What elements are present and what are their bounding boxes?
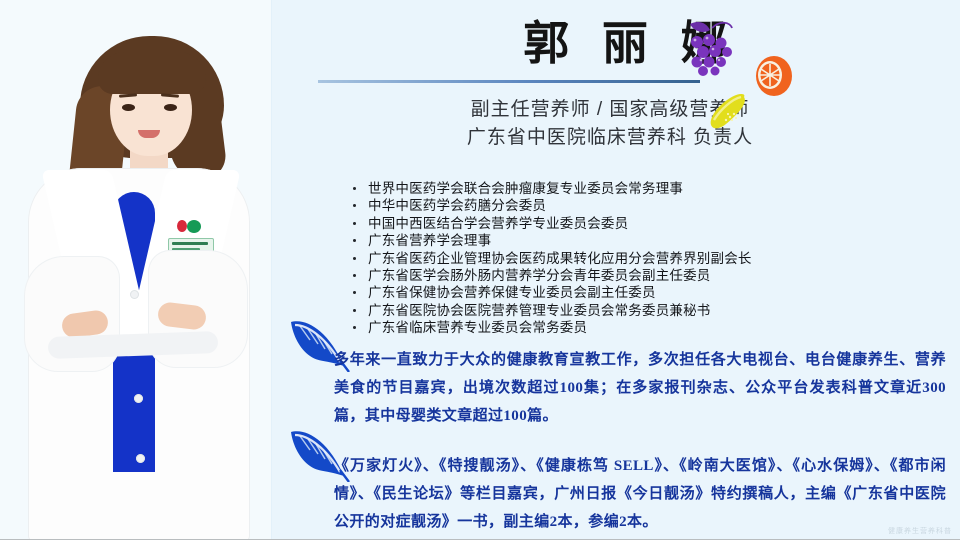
list-item-label: 广东省临床营养专业委员会常务委员 [368, 320, 587, 335]
list-item-label: 广东省医院协会医院营养管理专业委员会常务委员兼秘书 [368, 303, 711, 318]
bullet-dot-icon [353, 257, 356, 260]
list-item: 中国中西医结合学会营养学专业委员会委员 [350, 215, 950, 232]
bullet-dot-icon [353, 326, 356, 329]
bullet-dot-icon [353, 204, 356, 207]
watermark-text: 健康养生营养科普 [888, 526, 952, 536]
grapes-icon [688, 18, 744, 80]
list-item-label: 广东省医药企业管理协会医药成果转化应用分会营养界别副会长 [368, 251, 752, 266]
media-experience-paragraph: 多年来一直致力于大众的健康教育宣教工作，多次担任各大电视台、电台健康养生、营养美… [334, 346, 946, 430]
subtitle: 副主任营养师 / 国家高级营养师 广东省中医院临床营养科 负责人 [300, 96, 920, 152]
portrait-image [18, 42, 258, 540]
bullet-dot-icon [353, 309, 356, 312]
list-item-label: 世界中医药学会联合会肿瘤康复专业委员会常务理事 [368, 181, 683, 196]
bullet-dot-icon [353, 274, 356, 277]
coat-button-3 [136, 454, 145, 463]
list-item: 广东省医院协会医院营养管理专业委员会常务委员兼秘书 [350, 302, 950, 319]
portrait-fringe [98, 52, 206, 94]
coat-button-2 [134, 394, 143, 403]
list-item-label: 广东省营养学会理事 [368, 233, 491, 248]
list-item: 广东省临床营养专业委员会常务委员 [350, 319, 950, 336]
portrait-eye-left [122, 104, 135, 111]
bullet-dot-icon [353, 187, 356, 190]
lemon-icon [708, 92, 750, 134]
subtitle-line-1: 副主任营养师 / 国家高级营养师 [300, 96, 920, 124]
list-item: 广东省医学会肠外肠内营养学分会青年委员会副主任委员 [350, 267, 950, 284]
list-item-label: 中华中医药学会药膳分会委员 [368, 198, 546, 213]
slide-canvas: 郭 丽 娜 副主任营养师 / 国家高级营养师 广东省中医院临床营养科 负责人 世… [0, 0, 960, 540]
program-credits-paragraph: 《万家灯火》、《特搜靓汤》、《健康栋笃 SELL》、《岭南大医馆》、《心水保姆》… [334, 452, 946, 536]
coat-button-1 [130, 290, 139, 299]
bullet-dot-icon [353, 291, 356, 294]
portrait-panel [0, 0, 272, 540]
credentials-list: 世界中医药学会联合会肿瘤康复专业委员会常务理事 中华中医药学会药膳分会委员 中国… [350, 180, 950, 337]
list-item-label: 广东省医学会肠外肠内营养学分会青年委员会副主任委员 [368, 268, 711, 283]
subtitle-line-2: 广东省中医院临床营养科 负责人 [300, 124, 920, 152]
hospital-logo-icon [176, 218, 202, 236]
list-item: 世界中医药学会联合会肿瘤康复专业委员会常务理事 [350, 180, 950, 197]
list-item-label: 广东省保健协会营养保健专业委员会副主任委员 [368, 285, 656, 300]
portrait-eye-right [164, 104, 177, 111]
orange-slice-icon [754, 54, 794, 98]
list-item-label: 中国中西医结合学会营养学专业委员会委员 [368, 216, 628, 231]
title-divider [318, 80, 700, 83]
bullet-dot-icon [353, 239, 356, 242]
page-title: 郭 丽 娜 [300, 14, 960, 72]
list-item: 广东省营养学会理事 [350, 232, 950, 249]
list-item: 中华中医药学会药膳分会委员 [350, 197, 950, 214]
list-item: 广东省医药企业管理协会医药成果转化应用分会营养界别副会长 [350, 250, 950, 267]
list-item: 广东省保健协会营养保健专业委员会副主任委员 [350, 284, 950, 301]
bullet-dot-icon [353, 222, 356, 225]
